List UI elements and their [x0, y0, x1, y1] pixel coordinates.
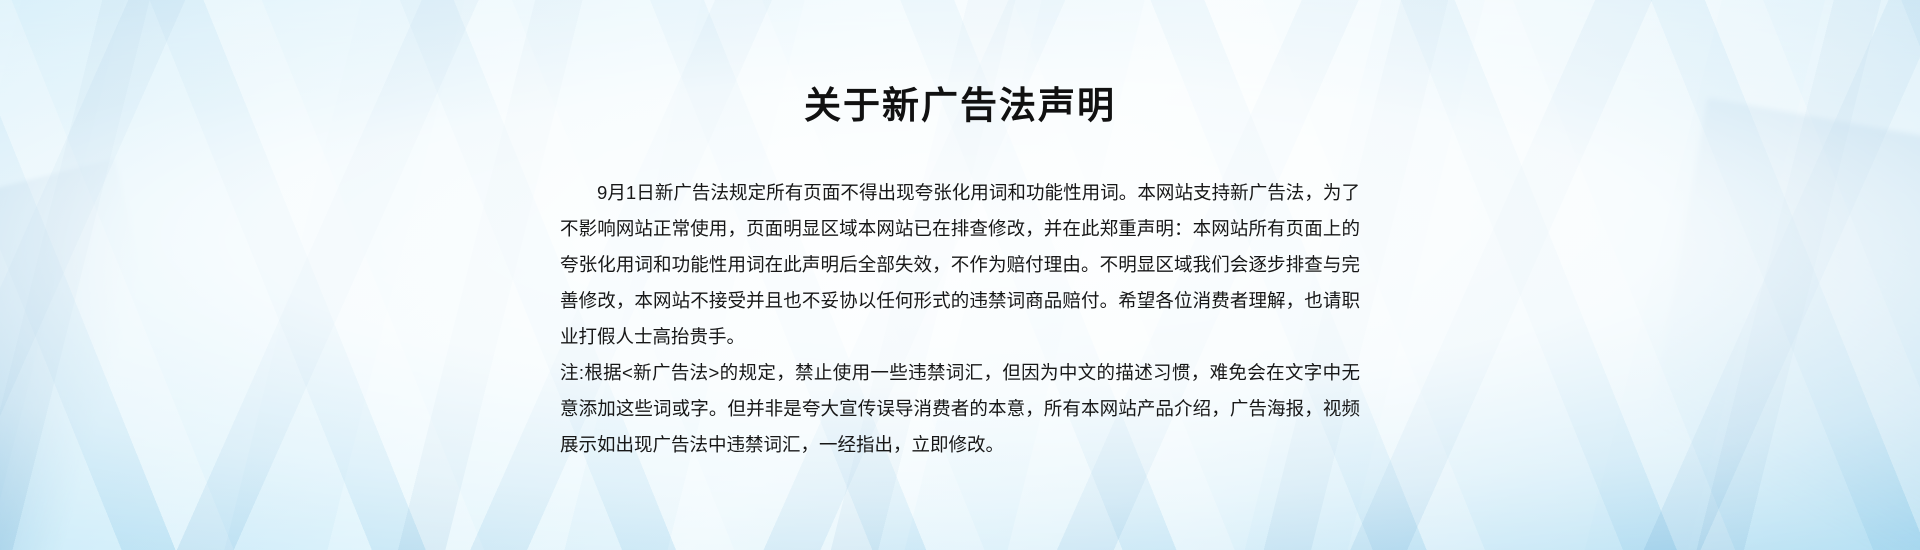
- statement-body: 9月1日新广告法规定所有页面不得出现夸张化用词和功能性用词。本网站支持新广告法，…: [560, 175, 1360, 463]
- banner-content: 关于新广告法声明 9月1日新广告法规定所有页面不得出现夸张化用词和功能性用词。本…: [0, 0, 1920, 550]
- advertising-law-statement-banner: 关于新广告法声明 9月1日新广告法规定所有页面不得出现夸张化用词和功能性用词。本…: [0, 0, 1920, 550]
- statement-paragraph-1: 9月1日新广告法规定所有页面不得出现夸张化用词和功能性用词。本网站支持新广告法，…: [560, 175, 1360, 355]
- page-title: 关于新广告法声明: [804, 84, 1116, 128]
- statement-paragraph-2: 注:根据<新广告法>的规定，禁止使用一些违禁词汇，但因为中文的描述习惯，难免会在…: [560, 355, 1360, 463]
